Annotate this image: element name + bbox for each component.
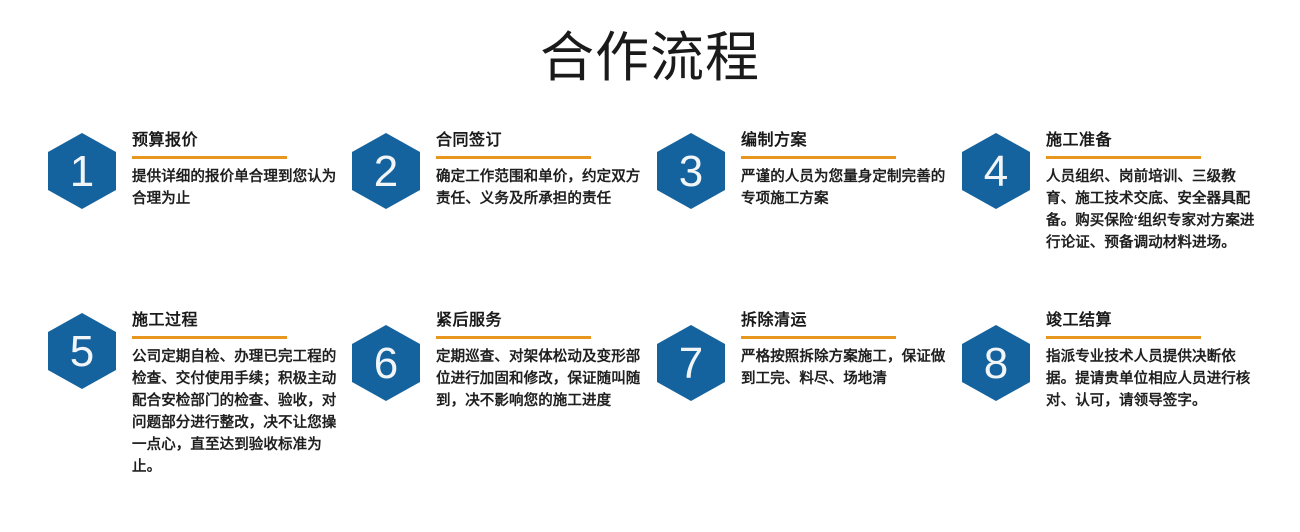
- step-item-4: 4 施工准备 人员组织、岗前培训、三级教育、施工技术交底、安全器具配备。购买保险…: [962, 129, 1264, 254]
- steps-row-1: 1 预算报价 提供详细的报价单合理到您认为合理为止 2 合同签订: [0, 129, 1300, 309]
- step-number: 2: [374, 150, 398, 194]
- step-item-7: 7 拆除清运 严格按照拆除方案施工，保证做到工完、料尽、场地清: [657, 309, 959, 401]
- step-item-5: 5 施工过程 公司定期自检、办理已完工程的检查、交付使用手续；积极主动配合安检部…: [48, 309, 350, 478]
- step-number: 5: [70, 330, 94, 374]
- step-number: 7: [679, 342, 703, 386]
- step-text-4: 施工准备 人员组织、岗前培训、三级教育、施工技术交底、安全器具配备。购买保险‘组…: [1046, 129, 1264, 254]
- hexagon-icon: 8: [962, 325, 1030, 401]
- hexagon-icon: 6: [352, 325, 420, 401]
- heading-underline: [132, 156, 287, 159]
- hexagon-badge-2: 2: [352, 133, 420, 209]
- step-number: 1: [70, 150, 94, 194]
- heading-underline: [741, 156, 896, 159]
- step-heading: 编制方案: [741, 131, 959, 151]
- step-description: 严格按照拆除方案施工，保证做到工完、料尽、场地清: [741, 346, 959, 390]
- step-text-3: 编制方案 严谨的人员为您量身定制完善的专项施工方案: [741, 129, 959, 210]
- step-text-7: 拆除清运 严格按照拆除方案施工，保证做到工完、料尽、场地清: [741, 309, 959, 390]
- step-description: 人员组织、岗前培训、三级教育、施工技术交底、安全器具配备。购买保险‘组织专家对方…: [1046, 166, 1264, 254]
- step-description: 指派专业技术人员提供决断依据。提请贵单位相应人员进行核对、认可，请领导签字。: [1046, 346, 1264, 412]
- steps-container: 1 预算报价 提供详细的报价单合理到您认为合理为止 2 合同签订: [0, 129, 1300, 519]
- step-description: 定期巡查、对架体松动及变形部位进行加固和修改，保证随叫随到，决不影响您的施工进度: [436, 346, 654, 412]
- step-heading: 合同签订: [436, 131, 654, 151]
- heading-underline: [436, 156, 591, 159]
- step-number: 8: [984, 342, 1008, 386]
- steps-row-2: 5 施工过程 公司定期自检、办理已完工程的检查、交付使用手续；积极主动配合安检部…: [0, 309, 1300, 519]
- step-item-6: 6 紧后服务 定期巡查、对架体松动及变形部位进行加固和修改，保证随叫随到，决不影…: [352, 309, 654, 412]
- hexagon-badge-7: 7: [657, 325, 725, 401]
- step-heading: 施工过程: [132, 311, 350, 331]
- step-item-8: 8 竣工结算 指派专业技术人员提供决断依据。提请贵单位相应人员进行核对、认可，请…: [962, 309, 1264, 412]
- step-text-8: 竣工结算 指派专业技术人员提供决断依据。提请贵单位相应人员进行核对、认可，请领导…: [1046, 309, 1264, 412]
- step-heading: 预算报价: [132, 131, 350, 151]
- step-text-1: 预算报价 提供详细的报价单合理到您认为合理为止: [132, 129, 350, 210]
- step-text-6: 紧后服务 定期巡查、对架体松动及变形部位进行加固和修改，保证随叫随到，决不影响您…: [436, 309, 654, 412]
- step-description: 提供详细的报价单合理到您认为合理为止: [132, 166, 350, 210]
- step-item-3: 3 编制方案 严谨的人员为您量身定制完善的专项施工方案: [657, 129, 959, 210]
- step-description: 公司定期自检、办理已完工程的检查、交付使用手续；积极主动配合安检部门的检查、验收…: [132, 346, 350, 478]
- heading-underline: [132, 336, 287, 339]
- hexagon-icon: 4: [962, 133, 1030, 209]
- step-number: 4: [984, 150, 1008, 194]
- hexagon-icon: 7: [657, 325, 725, 401]
- hexagon-icon: 1: [48, 133, 116, 209]
- step-item-2: 2 合同签订 确定工作范围和单价，约定双方责任、义务及所承担的责任: [352, 129, 654, 210]
- hexagon-badge-3: 3: [657, 133, 725, 209]
- heading-underline: [1046, 156, 1201, 159]
- step-heading: 拆除清运: [741, 311, 959, 331]
- cooperation-process-infographic: 合作流程 1 预算报价 提供详细的报价单合理到您认为合理为止: [0, 0, 1300, 532]
- step-number: 3: [679, 150, 703, 194]
- heading-underline: [1046, 336, 1201, 339]
- step-heading: 竣工结算: [1046, 311, 1264, 331]
- step-text-2: 合同签订 确定工作范围和单价，约定双方责任、义务及所承担的责任: [436, 129, 654, 210]
- hexagon-icon: 3: [657, 133, 725, 209]
- hexagon-icon: 5: [48, 313, 116, 389]
- heading-underline: [436, 336, 591, 339]
- heading-underline: [741, 336, 896, 339]
- hexagon-badge-5: 5: [48, 313, 116, 389]
- step-description: 严谨的人员为您量身定制完善的专项施工方案: [741, 166, 959, 210]
- hexagon-badge-1: 1: [48, 133, 116, 209]
- hexagon-badge-6: 6: [352, 325, 420, 401]
- step-number: 6: [374, 342, 398, 386]
- step-description: 确定工作范围和单价，约定双方责任、义务及所承担的责任: [436, 166, 654, 210]
- hexagon-badge-8: 8: [962, 325, 1030, 401]
- hexagon-badge-4: 4: [962, 133, 1030, 209]
- page-title: 合作流程: [0, 26, 1300, 90]
- hexagon-icon: 2: [352, 133, 420, 209]
- step-text-5: 施工过程 公司定期自检、办理已完工程的检查、交付使用手续；积极主动配合安检部门的…: [132, 309, 350, 478]
- step-heading: 紧后服务: [436, 311, 654, 331]
- step-item-1: 1 预算报价 提供详细的报价单合理到您认为合理为止: [48, 129, 350, 210]
- step-heading: 施工准备: [1046, 131, 1264, 151]
